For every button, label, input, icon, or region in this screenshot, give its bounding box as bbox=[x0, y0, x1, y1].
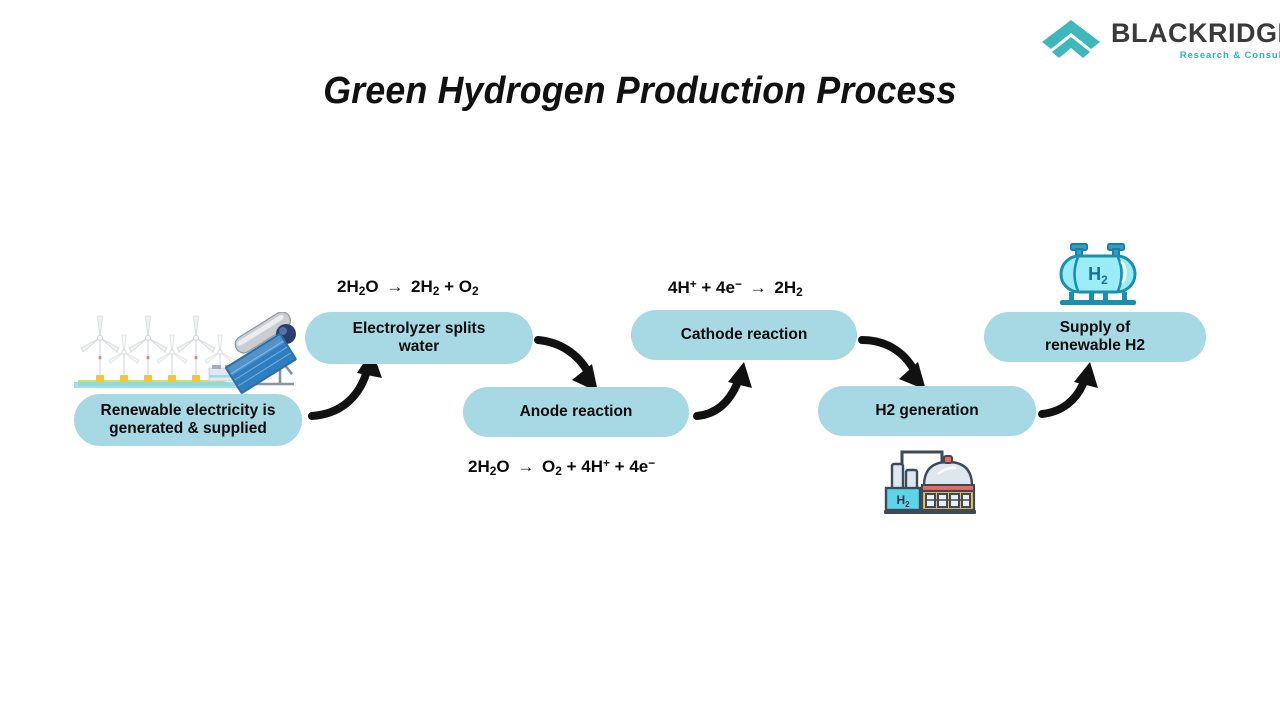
hydrogen-plant-icon: H2 bbox=[880, 444, 984, 520]
step-pill-anode-reaction[interactable]: Anode reaction bbox=[463, 387, 689, 437]
arrow-h2generation-to-supply bbox=[1042, 362, 1098, 414]
step-label: Cathode reaction bbox=[681, 326, 808, 344]
wind-farm-solar-panel-icon bbox=[70, 312, 298, 394]
arrow-electrolyzer-to-anode bbox=[538, 340, 598, 392]
step-label-line1: Renewable electricity is bbox=[101, 402, 276, 419]
brand-logo[interactable]: BLACKRIDGE® Research & Consulting bbox=[1040, 18, 1280, 62]
logo-tagline: Research & Consulting bbox=[1111, 51, 1280, 61]
step-label-line1: Electrolyzer splits bbox=[353, 320, 486, 337]
step-label-line1: Supply of bbox=[1060, 319, 1131, 336]
step-label-line2: generated & supplied bbox=[109, 420, 267, 437]
double-chevron-up-icon bbox=[1040, 18, 1102, 62]
page-title: Green Hydrogen Production Process bbox=[38, 70, 1241, 113]
step-pill-electrolyzer[interactable]: Electrolyzer splits water bbox=[305, 312, 533, 364]
electrolysis-equation: 2H2O → 2H2 + O2 bbox=[337, 277, 479, 298]
step-label-line2: water bbox=[399, 338, 440, 355]
logo-wordmark: BLACKRIDGE® bbox=[1111, 20, 1280, 47]
step-pill-h2-generation[interactable]: H2 generation bbox=[818, 386, 1036, 436]
step-label: Supply of renewable H2 bbox=[1045, 319, 1145, 356]
arrow-cathode-to-h2generation bbox=[862, 340, 926, 390]
arrow-anode-to-cathode bbox=[697, 362, 752, 416]
step-label: Electrolyzer splits water bbox=[353, 320, 486, 357]
step-label-line2: renewable H2 bbox=[1045, 337, 1145, 354]
step-label: Anode reaction bbox=[520, 403, 633, 421]
logo-name: BLACKRIDGE bbox=[1111, 18, 1280, 48]
step-pill-supply-renewable-h2[interactable]: Supply of renewable H2 bbox=[984, 312, 1206, 362]
logo-text-block: BLACKRIDGE® Research & Consulting bbox=[1111, 20, 1280, 61]
step-pill-renewable-electricity[interactable]: Renewable electricity is generated & sup… bbox=[74, 394, 302, 446]
step-label: Renewable electricity is generated & sup… bbox=[101, 402, 276, 439]
hydrogen-storage-tank-icon: H2 bbox=[1052, 238, 1144, 310]
anode-equation: 2H2O → O2 + 4H+ + 4e− bbox=[468, 456, 655, 478]
slide-canvas: BLACKRIDGE® Research & Consulting Green … bbox=[0, 0, 1280, 720]
step-label: H2 generation bbox=[875, 402, 978, 420]
step-pill-cathode-reaction[interactable]: Cathode reaction bbox=[631, 310, 857, 360]
cathode-equation: 4H+ + 4e− → 2H2 bbox=[668, 277, 803, 299]
